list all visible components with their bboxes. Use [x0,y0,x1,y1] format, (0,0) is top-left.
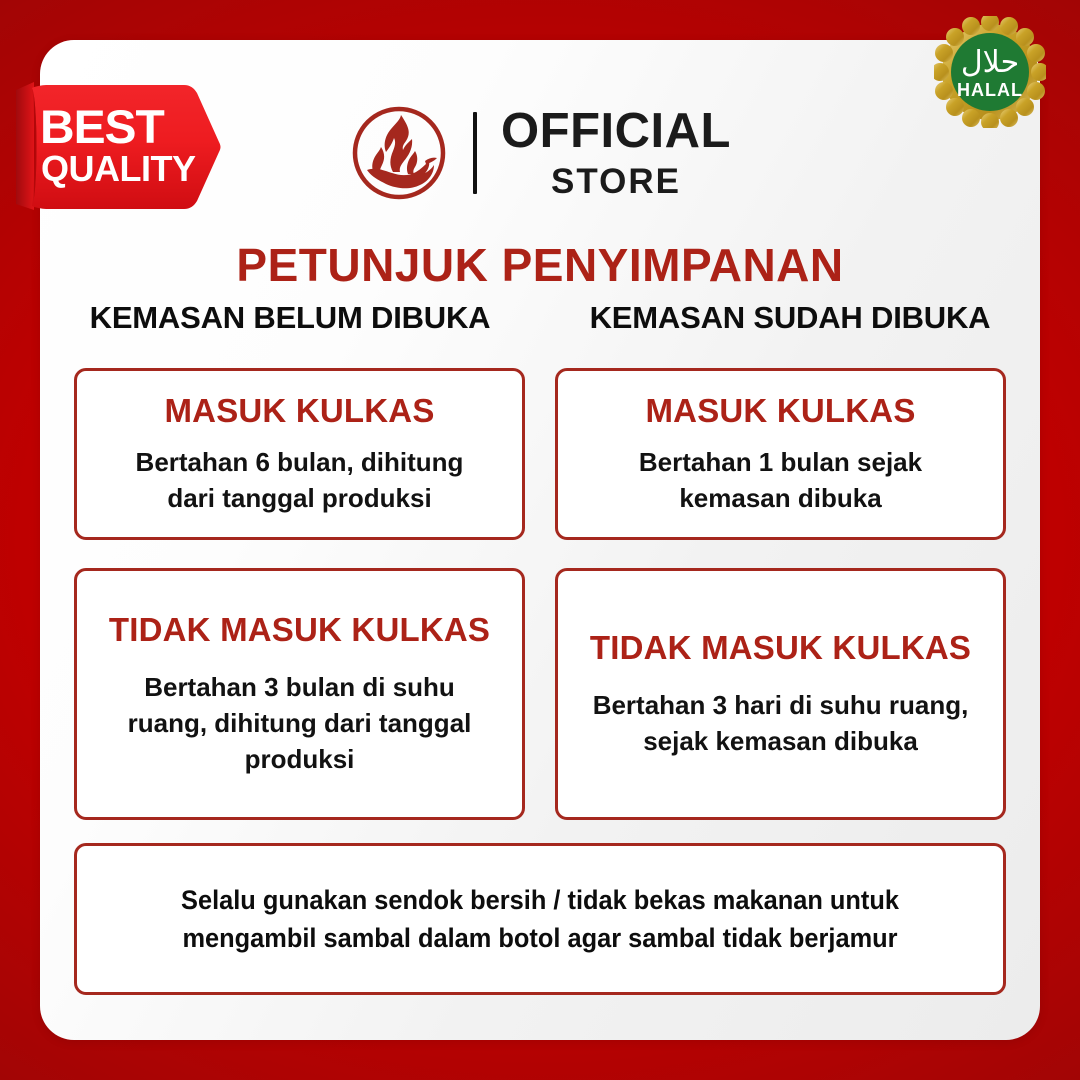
column-headers: KEMASAN BELUM DIBUKA KEMASAN SUDAH DIBUK… [40,300,1040,336]
usage-note-card: Selalu gunakan sendok bersih / tidak bek… [74,843,1006,995]
brand-official-text: OFFICIAL [501,107,731,156]
poster-canvas: OFFICIAL STORE BEST [0,0,1080,1080]
halal-label-text: HALAL [957,80,1023,100]
card-unopened-room: TIDAK MASUK KULKAS Bertahan 3 bulan di s… [74,568,525,820]
brand-wordmark: OFFICIAL STORE [501,107,731,199]
card-body: Bertahan 3 bulan di suhu ruang, dihitung… [110,670,490,778]
card-body: Bertahan 3 hari di suhu ruang, sejak kem… [591,688,971,760]
halal-badge: حلال HALAL [934,16,1046,128]
column-header-opened: KEMASAN SUDAH DIBUKA [540,300,1040,336]
column-header-unopened: KEMASAN BELUM DIBUKA [40,300,540,336]
brand-lockup: OFFICIAL STORE [349,103,731,203]
halal-arabic-text: حلال [961,45,1019,80]
usage-note-text: Selalu gunakan sendok bersih / tidak bek… [129,881,951,958]
card-title: TIDAK MASUK KULKAS [109,608,490,653]
card-opened-fridge: MASUK KULKAS Bertahan 1 bulan sejak kema… [555,368,1006,540]
card-body: Bertahan 6 bulan, dihitung dari tanggal … [120,445,480,517]
storage-card-grid: MASUK KULKAS Bertahan 6 bulan, dihitung … [74,368,1006,820]
card-title: TIDAK MASUK KULKAS [590,626,971,671]
card-unopened-fridge: MASUK KULKAS Bertahan 6 bulan, dihitung … [74,368,525,540]
card-row-refrigerated: MASUK KULKAS Bertahan 6 bulan, dihitung … [74,368,1006,540]
card-title: MASUK KULKAS [645,389,915,434]
card-title: MASUK KULKAS [164,389,434,434]
page-title: PETUNJUK PENYIMPANAN [40,238,1040,292]
brand-store-text: STORE [551,164,681,199]
card-row-room-temp: TIDAK MASUK KULKAS Bertahan 3 bulan di s… [74,568,1006,820]
brand-divider [473,112,477,194]
card-body: Bertahan 1 bulan sejak kemasan dibuka [601,445,961,517]
chili-flame-icon [349,103,449,203]
card-opened-room: TIDAK MASUK KULKAS Bertahan 3 hari di su… [555,568,1006,820]
best-quality-ribbon: BEST QUALITY [14,82,226,212]
